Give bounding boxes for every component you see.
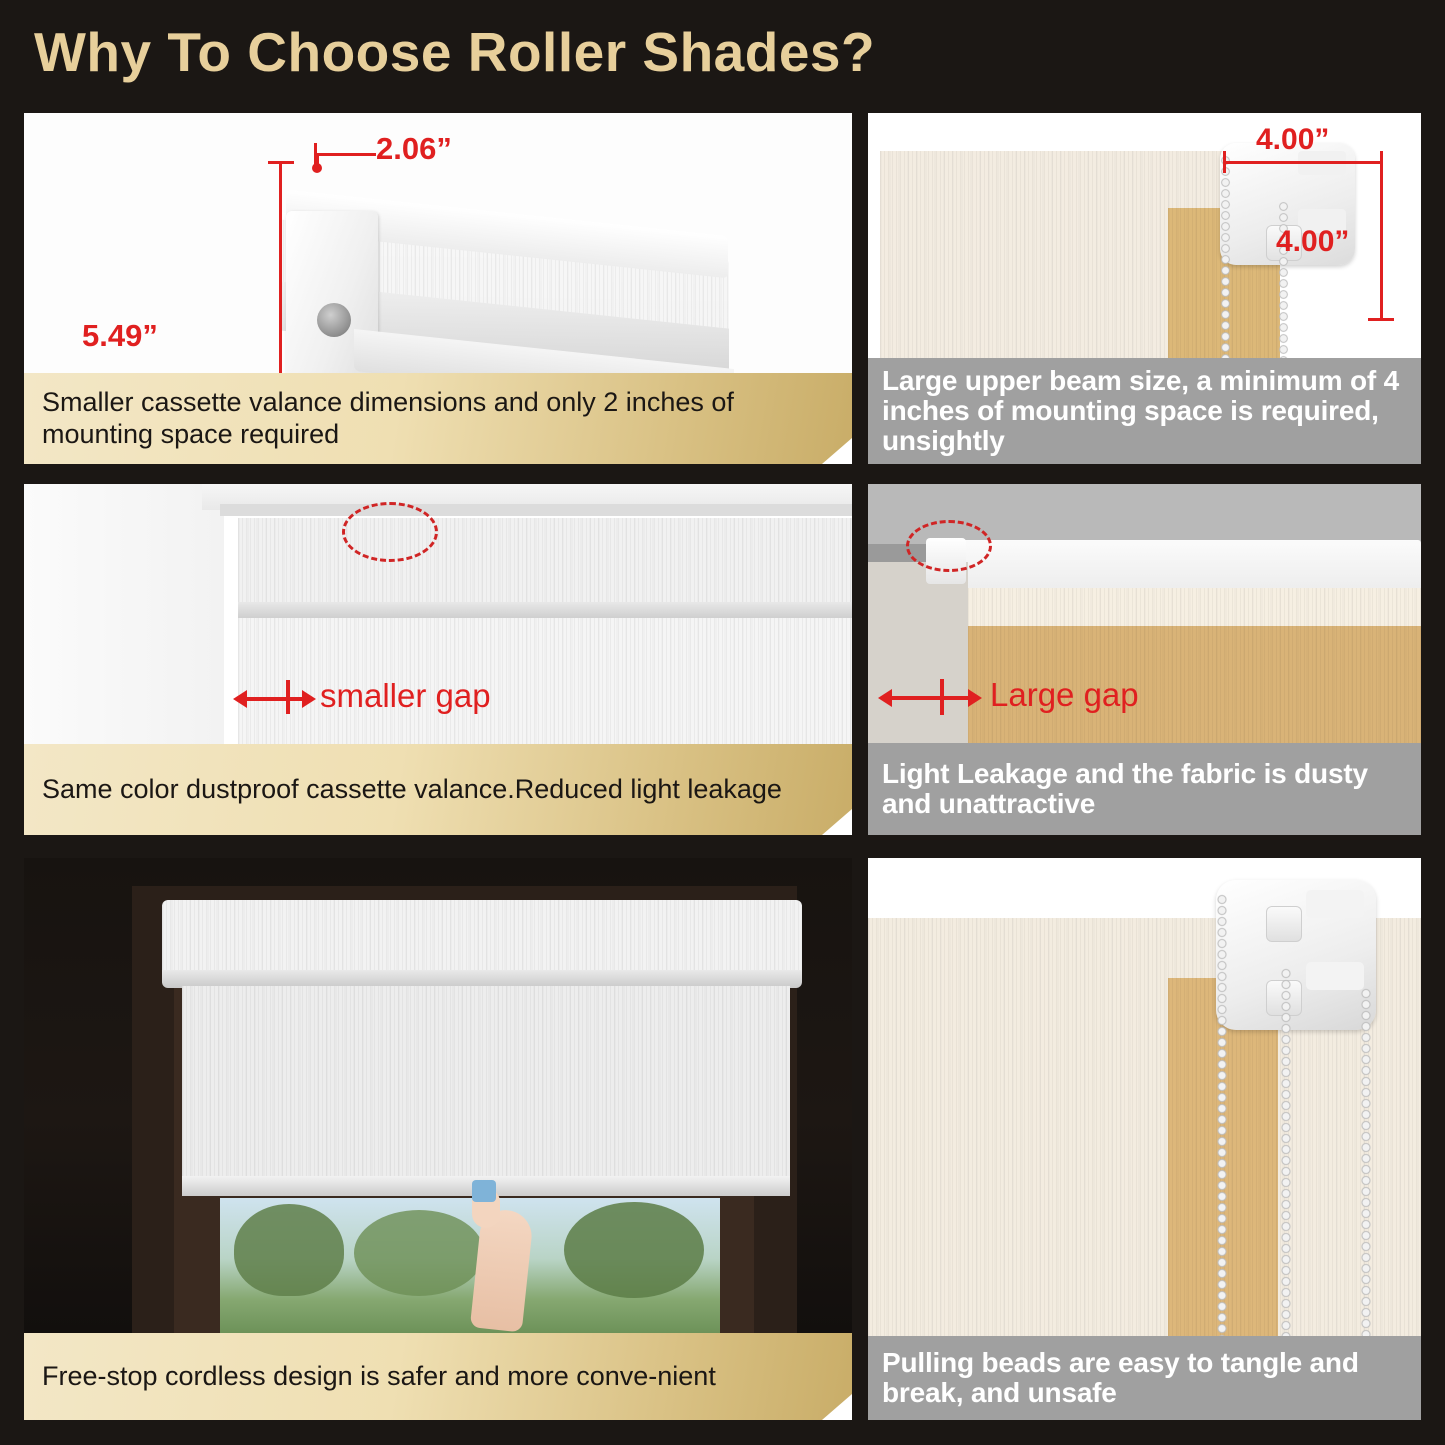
beam-width-tick-left <box>1223 151 1226 173</box>
tree-right <box>564 1202 704 1298</box>
bead-chain-left <box>1220 155 1231 358</box>
window-frame-left <box>24 484 224 744</box>
panel-6-image <box>868 858 1421 1336</box>
width-dimension-label: 2.06” <box>376 131 452 167</box>
large-gap-arrow-right <box>968 689 982 707</box>
bead-chain-right <box>1280 968 1292 1336</box>
panel-1-card: 2.06” 5.49” Smaller cassette valance dim… <box>24 113 852 464</box>
bracket-clip-top <box>1266 906 1302 942</box>
panel-5-card: Free-stop cordless design is safer and m… <box>24 858 852 1420</box>
panel-1-image: 2.06” 5.49” <box>24 113 852 373</box>
panel-3-card: smaller gap Same color dustproof cassett… <box>24 484 852 835</box>
width-dim-line <box>316 153 376 156</box>
roller-tube-housing <box>928 540 1421 594</box>
height-dim-line <box>279 161 282 373</box>
panel-2-image: 4.00” 4.00” <box>868 113 1421 358</box>
beam-depth-tick-bottom <box>1368 318 1394 321</box>
page-title: Why To Choose Roller Shades? <box>34 20 875 84</box>
panel-4-card: Large gap Light Leakage and the fabric i… <box>868 484 1421 835</box>
smaller-gap-label: smaller gap <box>320 677 491 715</box>
panel-5-caption: Free-stop cordless design is safer and m… <box>24 1333 852 1420</box>
tree-left <box>234 1204 344 1296</box>
large-gap-arrow-line <box>888 696 978 700</box>
gap-highlight-ellipse <box>906 520 992 572</box>
shade-fabric <box>182 986 790 1179</box>
beam-depth-label: 4.00” <box>1276 225 1349 259</box>
panel-4-image: Large gap <box>868 484 1421 743</box>
smaller-gap-arrow-right <box>302 690 316 708</box>
cassette-headrail <box>162 900 802 978</box>
panel-6-card: Pulling beads are easy to tangle and bre… <box>868 858 1421 1420</box>
height-dimension-label: 5.49” <box>82 318 158 354</box>
panel-5-image <box>24 858 852 1333</box>
bracket-slot-bottom <box>1306 962 1364 990</box>
window-side-wall <box>868 562 968 743</box>
shade-handle <box>472 1180 496 1202</box>
smaller-gap-arrow-left <box>233 690 247 708</box>
beam-depth-dim-line <box>1380 161 1383 321</box>
bead-chain-loop <box>1360 988 1372 1336</box>
valance-lip <box>238 602 852 618</box>
panel-1-caption: Smaller cassette valance dimensions and … <box>24 373 852 464</box>
window-frame-shadow <box>220 504 852 516</box>
tree-center <box>354 1210 484 1296</box>
shade-fabric-top <box>964 588 1421 628</box>
bracket-slot-top <box>1306 890 1364 918</box>
bead-chain-left <box>1216 894 1228 1336</box>
large-gap-tick <box>940 679 944 715</box>
panel-6-caption: Pulling beads are easy to tangle and bre… <box>868 1336 1421 1420</box>
width-dim-dot <box>312 163 322 173</box>
infographic-page: Why To Choose Roller Shades? 2.06” <box>0 0 1445 1445</box>
cassette-valance <box>238 518 852 606</box>
panel-3-image: smaller gap <box>24 484 852 744</box>
panel-2-caption: Large upper beam size, a minimum of 4 in… <box>868 358 1421 464</box>
height-dim-tick-top <box>268 161 294 164</box>
gap-highlight-ellipse <box>342 502 438 562</box>
large-gap-label: Large gap <box>990 676 1139 714</box>
beam-width-dim-line <box>1223 161 1383 164</box>
large-gap-arrow-left <box>878 689 892 707</box>
panel-3-caption: Same color dustproof cassette valance.Re… <box>24 744 852 835</box>
smaller-gap-tick <box>286 680 290 714</box>
panel-4-caption: Light Leakage and the fabric is dusty an… <box>868 743 1421 835</box>
panel-2-card: 4.00” 4.00” Large upper beam size, a min… <box>868 113 1421 464</box>
beam-width-label: 4.00” <box>1256 123 1329 157</box>
end-cap-hole <box>317 303 351 337</box>
